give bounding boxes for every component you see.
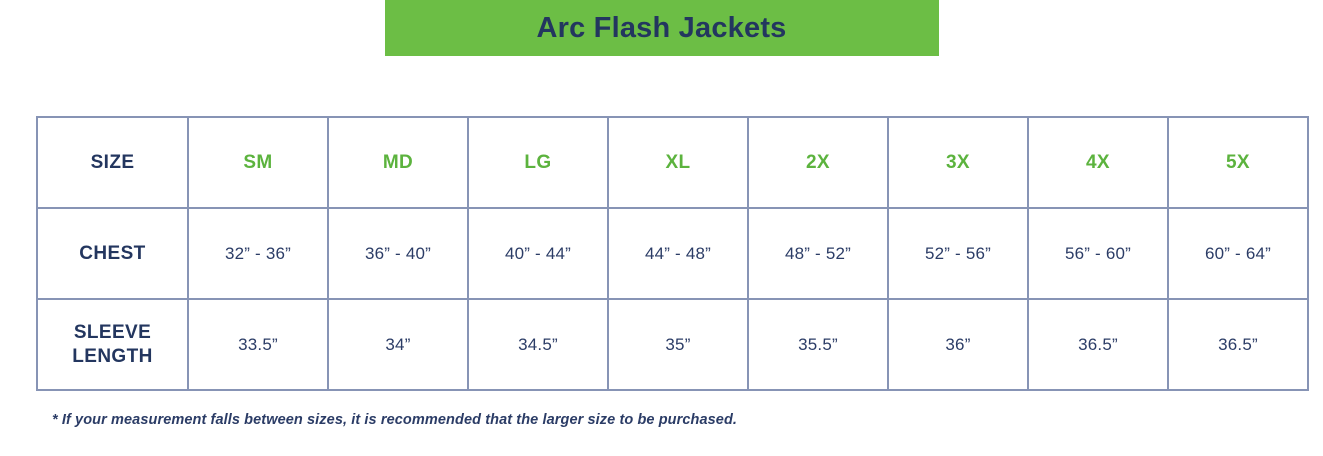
header-cell-size: SIZE xyxy=(37,117,188,208)
header-cell-2x: 2X xyxy=(748,117,888,208)
header-cell-4x: 4X xyxy=(1028,117,1168,208)
sleeve-cell-lg: 34.5” xyxy=(468,299,608,390)
header-label-5x: 5X xyxy=(1226,152,1250,173)
chest-cell-xl: 44” - 48” xyxy=(608,208,748,299)
page-title: Arc Flash Jackets xyxy=(536,14,786,43)
chest-value-2x: 48” - 52” xyxy=(785,244,851,263)
row-label-chest: CHEST xyxy=(37,208,188,299)
chest-cell-2x: 48” - 52” xyxy=(748,208,888,299)
sleeve-value-5x: 36.5” xyxy=(1218,335,1258,354)
header-label-2x: 2X xyxy=(806,152,830,173)
sleeve-cell-4x: 36.5” xyxy=(1028,299,1168,390)
table-row-header: SIZE SM MD LG XL 2X xyxy=(37,117,1308,208)
sleeve-value-md: 34” xyxy=(385,335,410,354)
chest-value-lg: 40” - 44” xyxy=(505,244,571,263)
chest-value-5x: 60” - 64” xyxy=(1205,244,1271,263)
chest-cell-3x: 52” - 56” xyxy=(888,208,1028,299)
chest-value-xl: 44” - 48” xyxy=(645,244,711,263)
sleeve-cell-2x: 35.5” xyxy=(748,299,888,390)
sleeve-cell-5x: 36.5” xyxy=(1168,299,1308,390)
header-label-xl: XL xyxy=(665,152,690,173)
header-cell-xl: XL xyxy=(608,117,748,208)
sleeve-cell-md: 34” xyxy=(328,299,468,390)
title-banner: Arc Flash Jackets xyxy=(385,0,939,56)
row-label-sleeve-line2: LENGTH xyxy=(72,346,153,367)
header-cell-lg: LG xyxy=(468,117,608,208)
row-label-sleeve-length: SLEEVE LENGTH xyxy=(37,299,188,390)
size-table: SIZE SM MD LG XL 2X xyxy=(36,116,1309,391)
sleeve-value-xl: 35” xyxy=(665,335,690,354)
size-table-container: SIZE SM MD LG XL 2X xyxy=(36,116,1258,391)
header-cell-md: MD xyxy=(328,117,468,208)
chest-value-4x: 56” - 60” xyxy=(1065,244,1131,263)
size-chart-page: Arc Flash Jackets SIZE SM MD LG xyxy=(0,0,1323,456)
chest-cell-4x: 56” - 60” xyxy=(1028,208,1168,299)
row-label-chest-text: CHEST xyxy=(79,243,145,264)
sleeve-value-3x: 36” xyxy=(945,335,970,354)
header-cell-sm: SM xyxy=(188,117,328,208)
chest-cell-5x: 60” - 64” xyxy=(1168,208,1308,299)
header-cell-3x: 3X xyxy=(888,117,1028,208)
header-label-md: MD xyxy=(383,152,413,173)
table-row-chest: CHEST 32” - 36” 36” - 40” 40” - 44” 44” … xyxy=(37,208,1308,299)
header-label-lg: LG xyxy=(524,152,551,173)
table-row-sleeve-length: SLEEVE LENGTH 33.5” 34” 34.5” 35” xyxy=(37,299,1308,390)
header-label-sm: SM xyxy=(243,152,272,173)
chest-cell-sm: 32” - 36” xyxy=(188,208,328,299)
sleeve-cell-3x: 36” xyxy=(888,299,1028,390)
chest-value-md: 36” - 40” xyxy=(365,244,431,263)
sleeve-value-2x: 35.5” xyxy=(798,335,838,354)
sleeve-cell-sm: 33.5” xyxy=(188,299,328,390)
title-banner-container: Arc Flash Jackets xyxy=(0,0,1323,58)
sleeve-value-sm: 33.5” xyxy=(238,335,278,354)
row-label-sleeve-line1: SLEEVE xyxy=(74,322,151,343)
chest-cell-lg: 40” - 44” xyxy=(468,208,608,299)
header-label-size: SIZE xyxy=(91,152,135,173)
header-label-4x: 4X xyxy=(1086,152,1110,173)
sleeve-value-lg: 34.5” xyxy=(518,335,558,354)
header-cell-5x: 5X xyxy=(1168,117,1308,208)
sleeve-cell-xl: 35” xyxy=(608,299,748,390)
sleeve-value-4x: 36.5” xyxy=(1078,335,1118,354)
footnote-text: * If your measurement falls between size… xyxy=(52,412,737,428)
header-label-3x: 3X xyxy=(946,152,970,173)
chest-cell-md: 36” - 40” xyxy=(328,208,468,299)
chest-value-3x: 52” - 56” xyxy=(925,244,991,263)
chest-value-sm: 32” - 36” xyxy=(225,244,291,263)
